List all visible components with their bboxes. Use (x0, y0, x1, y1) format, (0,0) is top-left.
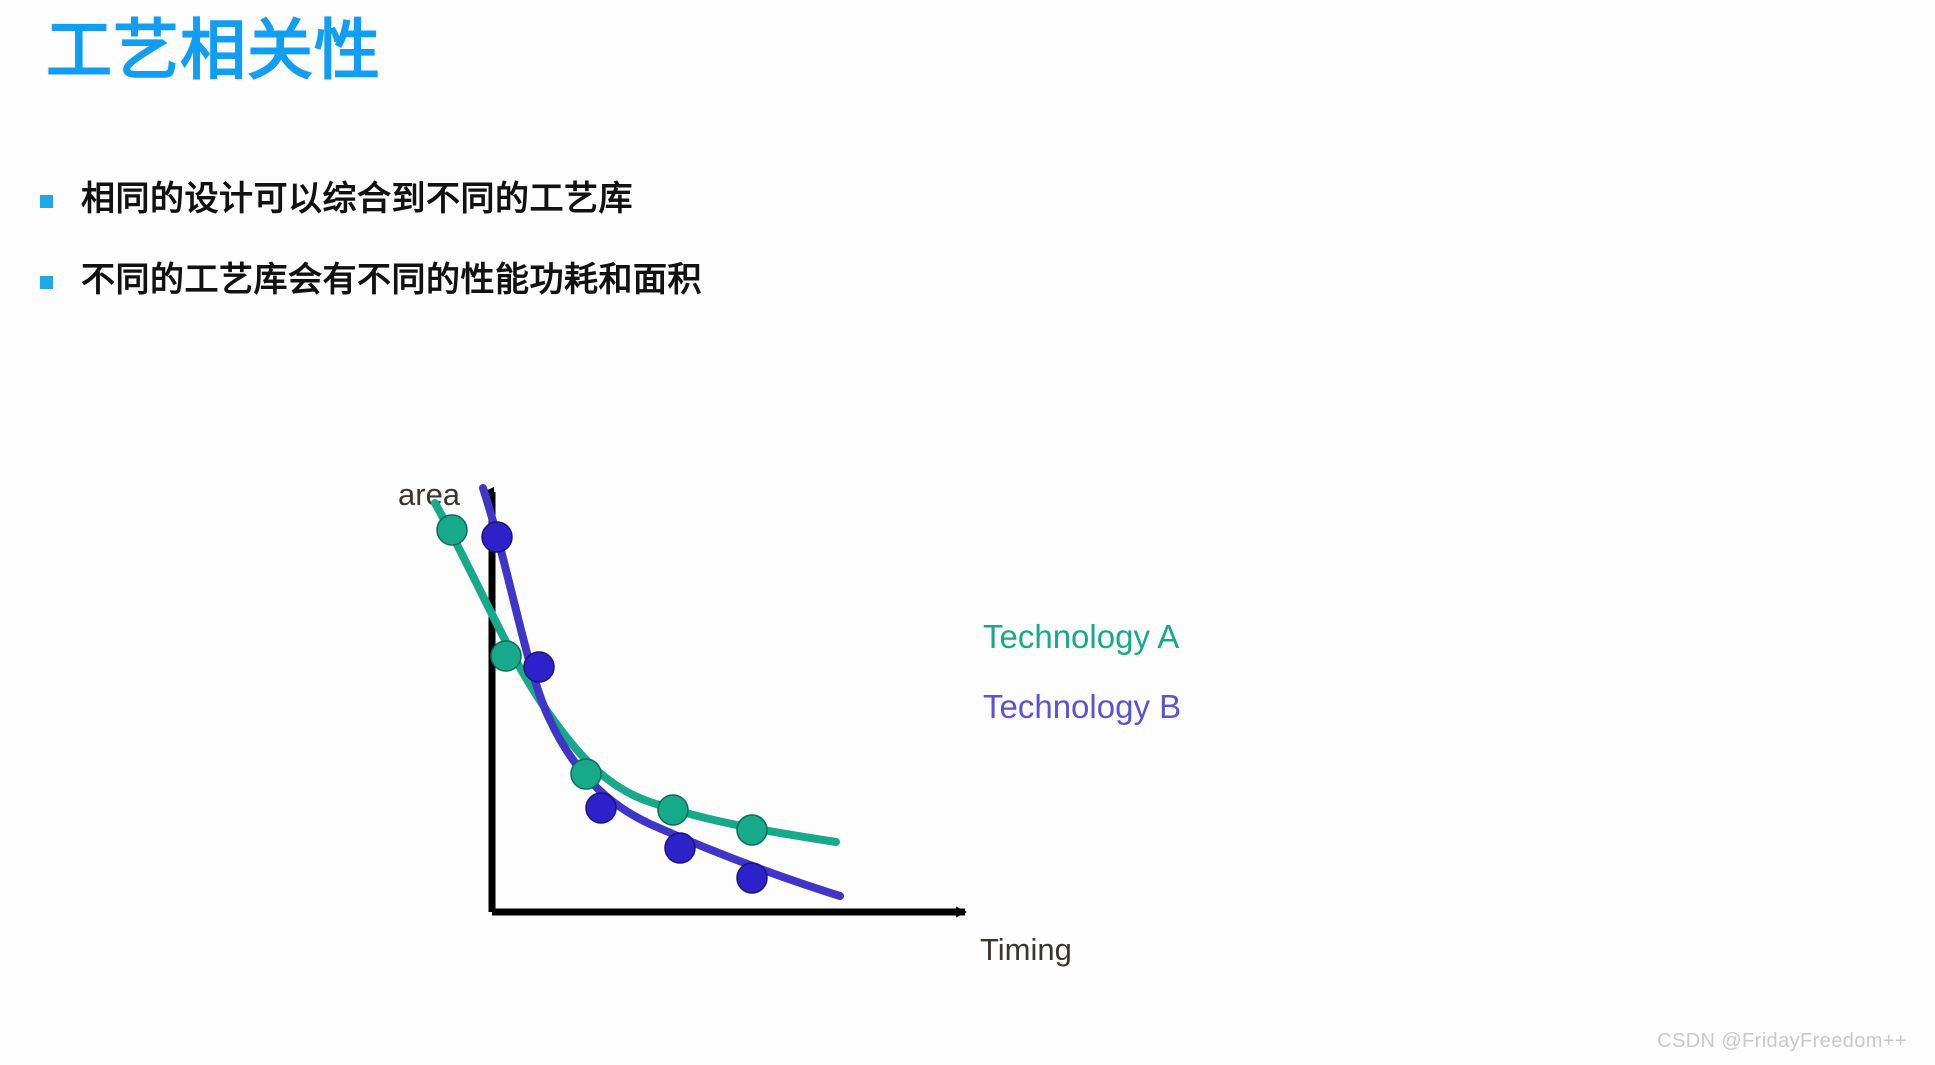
data-point (571, 759, 601, 789)
data-point (482, 522, 512, 552)
data-point (737, 863, 767, 893)
bullet-list: 相同的设计可以综合到不同的工艺库 不同的工艺库会有不同的性能功耗和面积 (40, 178, 1240, 339)
bullet-text: 不同的工艺库会有不同的性能功耗和面积 (81, 259, 702, 302)
data-point (658, 795, 688, 825)
data-point (737, 815, 767, 845)
list-item: 相同的设计可以综合到不同的工艺库 (40, 178, 1240, 221)
csdn-watermark: CSDN @FridayFreedom++ (1657, 1030, 1907, 1053)
data-point (665, 833, 695, 863)
square-bullet-icon (40, 276, 53, 289)
data-point (491, 641, 521, 671)
y-axis-label: area (398, 477, 461, 512)
square-bullet-icon (40, 195, 53, 208)
legend-label-technology-a: Technology A (983, 618, 1179, 655)
legend-label-technology-b: Technology B (983, 688, 1181, 725)
x-axis-label: Timing (980, 932, 1072, 967)
series-markers-technology-b (482, 522, 767, 893)
chart-figure: area Timing Technology A Technology B (340, 440, 1340, 1000)
data-point (524, 652, 554, 682)
bullet-text: 相同的设计可以综合到不同的工艺库 (81, 178, 633, 221)
data-point (586, 793, 616, 823)
area-vs-timing-chart: area Timing Technology A Technology B (340, 440, 1340, 1000)
list-item: 不同的工艺库会有不同的性能功耗和面积 (40, 259, 1240, 302)
page-title: 工艺相关性 (46, 13, 381, 89)
data-point (437, 515, 467, 545)
